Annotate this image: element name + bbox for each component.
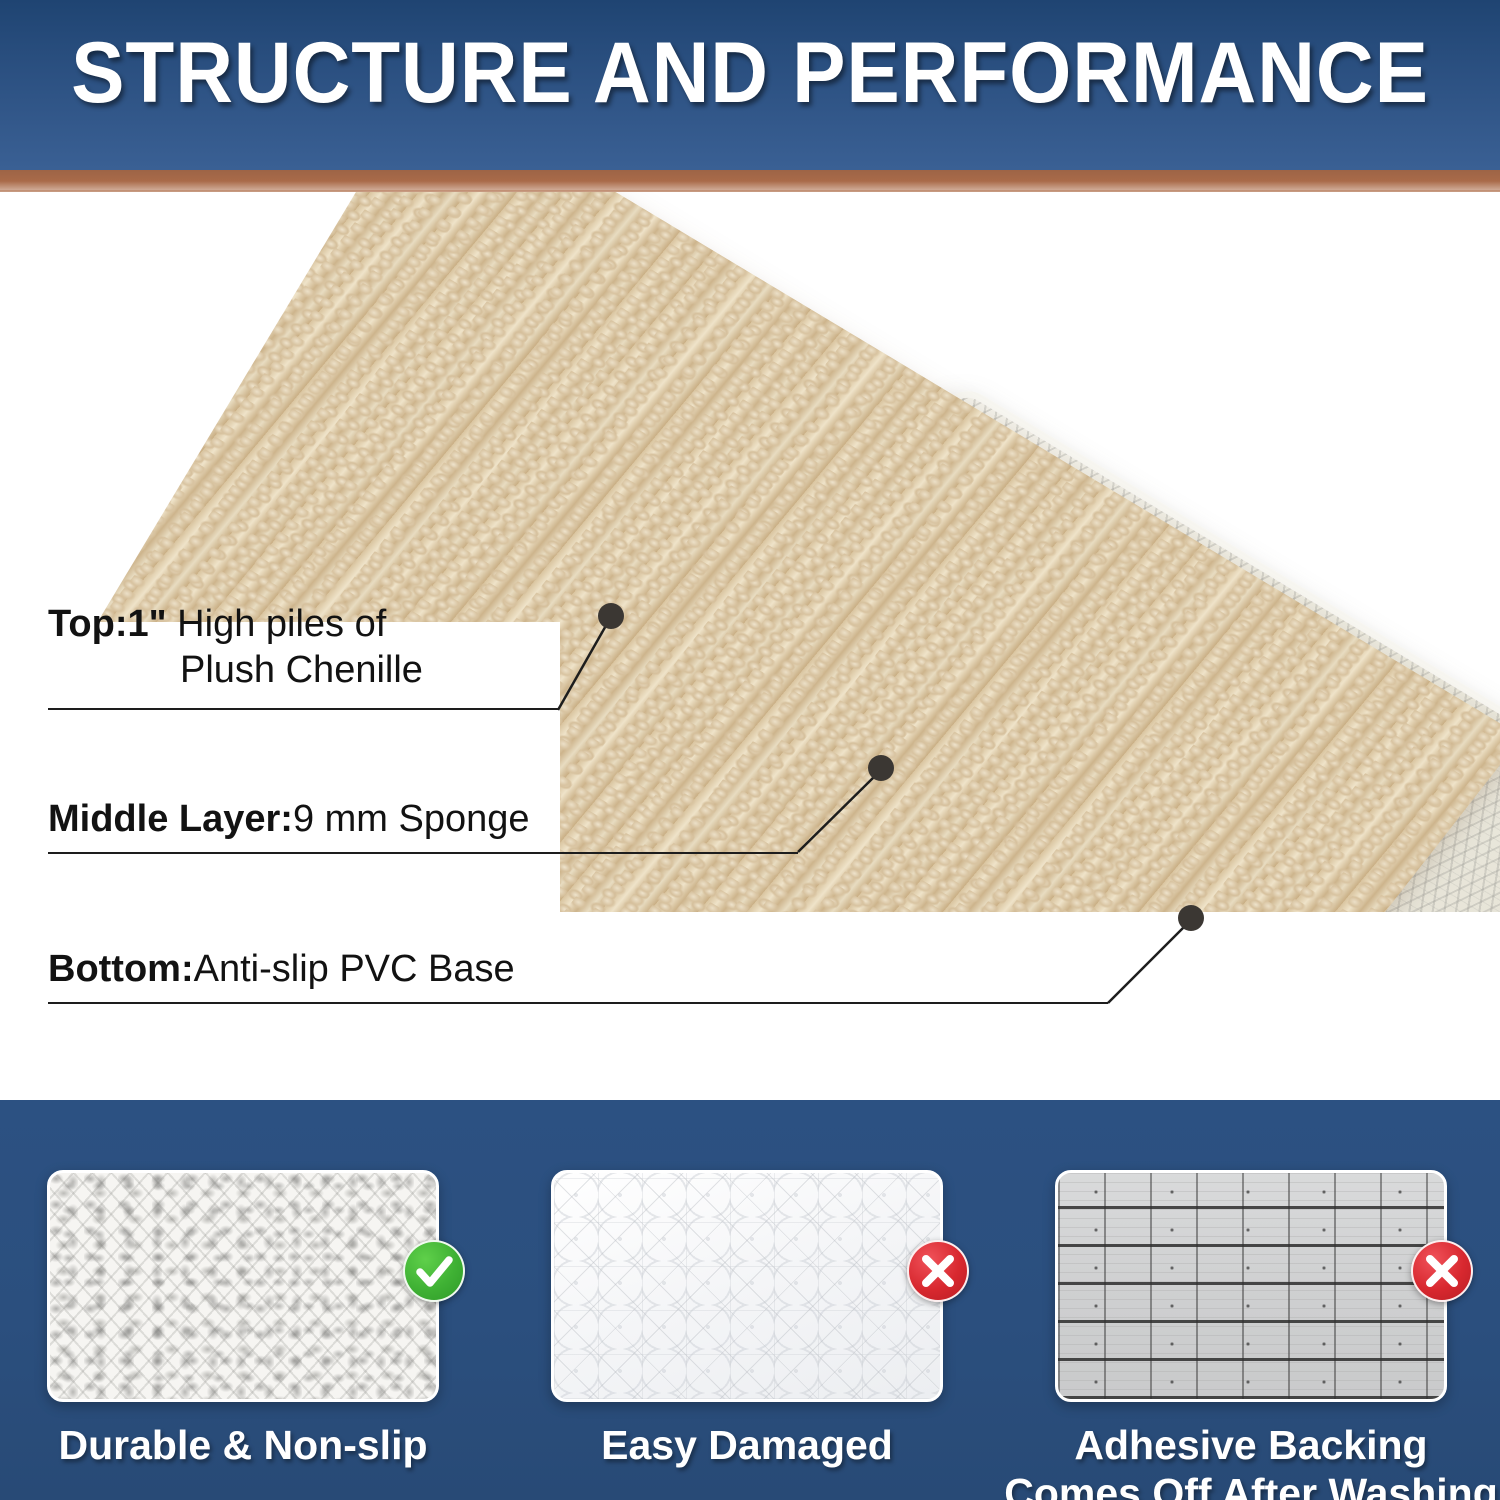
header-banner: STRUCTURE AND PERFORMANCE: [0, 0, 1500, 170]
callout-top-rest: High piles of: [167, 603, 387, 645]
comparison-caption-2: Easy Damaged: [491, 1422, 1003, 1470]
callout-top-rule: [48, 708, 558, 710]
check-icon: [405, 1242, 463, 1300]
check-badge-icon: [403, 1240, 465, 1302]
callout-top-line2: Plush Chenille: [180, 646, 423, 695]
callout-middle-leader: [796, 745, 906, 860]
page-title: STRUCTURE AND PERFORMANCE: [53, 28, 1448, 118]
header-accent-stripe: [0, 170, 1500, 192]
callout-top-leader: [556, 600, 626, 715]
callout-bottom-bold: Bottom:: [48, 948, 194, 990]
swatch-open-cell-mesh: [47, 1170, 439, 1402]
callout-middle-line1: Middle Layer:9 mm Sponge: [48, 795, 530, 844]
photo-mask-bottom: [0, 912, 1500, 1100]
comparison-card-easy-damaged: Easy Damaged: [551, 1170, 943, 1402]
cross-badge-icon-2: [1411, 1240, 1473, 1302]
callout-middle-rest: 9 mm Sponge: [293, 798, 530, 840]
cross-badge-icon-1: [907, 1240, 969, 1302]
callout-bottom-leader: [1106, 895, 1216, 1010]
comparison-card-durable: Durable & Non-slip: [47, 1170, 439, 1402]
callout-middle-rule: [48, 852, 798, 854]
comparison-panel: Durable & Non-slip Easy Damaged: [0, 1100, 1500, 1500]
swatch-grey-grid: [1055, 1170, 1447, 1402]
comparison-card-list: Durable & Non-slip Easy Damaged: [0, 1100, 1500, 1500]
callout-bottom-rule: [48, 1002, 1108, 1004]
callout-middle-bold: Middle Layer:: [48, 798, 293, 840]
infographic-page: STRUCTURE AND PERFORMANCE Top:1" High pi…: [0, 0, 1500, 1500]
callout-bottom-rest: Anti-slip PVC Base: [194, 948, 515, 990]
close-icon: [1413, 1242, 1471, 1300]
callout-bottom-line1: Bottom:Anti-slip PVC Base: [48, 945, 515, 994]
comparison-card-adhesive-backing: Adhesive Backing Comes Off After Washing: [1055, 1170, 1447, 1402]
comparison-caption-3: Adhesive Backing Comes Off After Washing: [995, 1422, 1500, 1500]
close-icon: [909, 1242, 967, 1300]
callout-top-bold: Top:1": [48, 603, 167, 645]
callout-top-line1: Top:1" High piles of: [48, 600, 386, 649]
swatch-embossed-diamond: [551, 1170, 943, 1402]
comparison-caption-1: Durable & Non-slip: [0, 1422, 499, 1470]
